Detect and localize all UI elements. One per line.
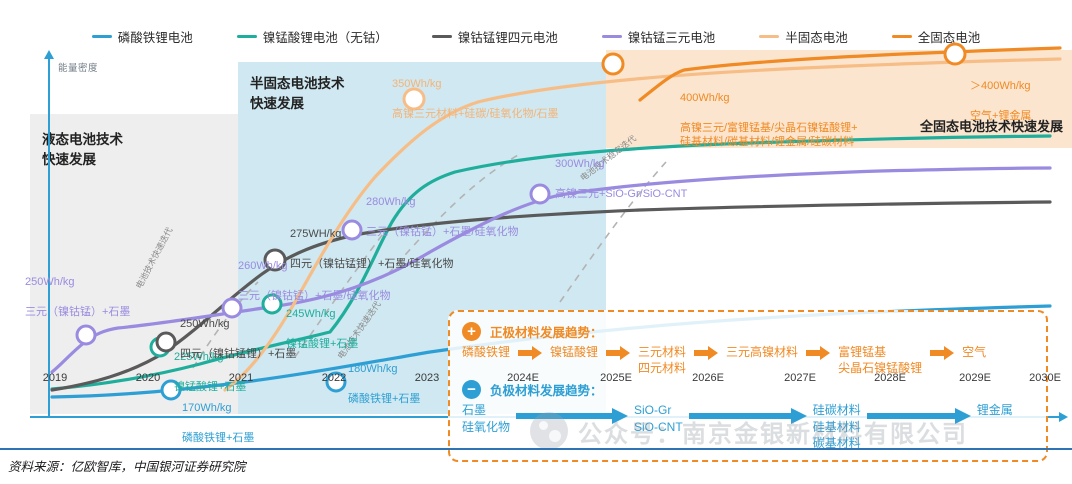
x-tick-2029E: 2029E <box>959 372 991 384</box>
annotation-280-material: 三元（镍钴锰）+石墨/硅氧化物 <box>366 225 518 240</box>
x-tick-2026E: 2026E <box>692 372 724 384</box>
plus-icon: + <box>462 322 481 341</box>
x-tick-2028E: 2028E <box>874 372 906 384</box>
cathode-node-1: 镍锰酸锂 <box>550 344 598 360</box>
annotation-300-value: 300Wh/kg <box>555 157 687 172</box>
cathode-node-0: 磷酸铁锂 <box>462 344 510 360</box>
annotation-400plus-material: 空气+锂金属 <box>970 109 1031 124</box>
legend-item-nmc: 镍钴锰三元电池 <box>602 27 716 46</box>
x-tick-2022: 2022 <box>322 372 346 384</box>
annotation-250-ternary: 250Wh/kg 三元（镍钴锰）+石墨 <box>25 260 130 334</box>
arrow-right-icon <box>606 346 630 360</box>
annotation-180-material: 磷酸铁锂+石墨 <box>348 392 420 407</box>
legend-label-nmc: 镍钴锰三元电池 <box>628 27 716 46</box>
anode-chain: 石墨 硅氧化物 SiO-Gr SiO-CNT 硅碳材料 硅基材料 碳基材料 锂金… <box>462 402 1034 451</box>
legend-label-nmca: 镍钴锰锂四元电池 <box>458 27 558 46</box>
annotation-300: 300Wh/kg 高镍三元+SiO-Gr/SiO-CNT <box>555 142 687 216</box>
annotation-260: 260Wh/kg 三元（镍钴锰）+石墨/硅氧化物 <box>238 244 390 318</box>
annotation-300-material: 高镍三元+SiO-Gr/SiO-CNT <box>555 187 687 202</box>
legend-swatch-lfp <box>92 35 112 38</box>
chart-legend: 磷酸铁锂电池 镍锰酸锂电池（无钴） 镍钴锰锂四元电池 镍钴锰三元电池 半固态电池… <box>0 24 1072 48</box>
marker-allsolid-2030 <box>945 44 965 64</box>
anode-node-1: SiO-Gr SiO-CNT <box>634 402 683 434</box>
legend-item-lfp: 磷酸铁锂电池 <box>92 27 193 46</box>
x-tick-2024E: 2024E <box>507 372 539 384</box>
annotation-400-value: 400Wh/kg <box>680 91 858 106</box>
arrow-right-icon <box>930 346 954 360</box>
arrow-right-icon <box>518 346 542 360</box>
annotation-400plus-value: ＞400Wh/kg <box>970 79 1031 94</box>
annotation-400plus: ＞400Wh/kg 空气+锂金属 <box>970 64 1031 138</box>
arrow-right-long-icon <box>516 408 628 424</box>
arrow-right-long-icon <box>867 408 971 424</box>
marker-nmca-2021 <box>157 333 175 351</box>
x-tick-2027E: 2027E <box>784 372 816 384</box>
x-tick-2019: 2019 <box>43 372 67 384</box>
anode-node-2: 硅碳材料 硅基材料 碳基材料 <box>813 402 861 451</box>
footer-divider <box>0 448 1072 450</box>
marker-nmc-2026 <box>531 185 549 203</box>
legend-label-allsolid: 全固态电池 <box>918 27 981 46</box>
annotation-400-material: 高镍三元/富锂锰基/尖晶石镍锰酸锂+ 硅基材料/碳基材料/锂金属/硅碳材料 <box>680 121 858 151</box>
annotation-350: 350Wh/kg 高镍三元材料+硅碳/硅氧化物/石墨 <box>392 62 559 136</box>
annotation-280-value: 280Wh/kg <box>366 195 518 210</box>
legend-item-allsolid: 全固态电池 <box>892 27 981 46</box>
marker-allsolid-2026 <box>603 54 623 74</box>
annotation-250q-material: 四元（镍钴锰锂）+石墨 <box>180 347 296 362</box>
annotation-280: 280Wh/kg 三元（镍钴锰）+石墨/硅氧化物 <box>366 180 518 254</box>
anode-node-0: 石墨 硅氧化物 <box>462 402 510 434</box>
legend-swatch-allsolid <box>892 35 912 38</box>
legend-label-lfp: 磷酸铁锂电池 <box>118 27 193 46</box>
x-tick-2023: 2023 <box>415 372 439 384</box>
annotation-170-material: 磷酸铁锂+石墨 <box>182 431 254 446</box>
x-axis-ticks: 2019 2020 2021 2022 2023 2024E 2025E 202… <box>0 372 1072 392</box>
legend-swatch-nmca <box>432 35 452 38</box>
cathode-title: 正极材料发展趋势： <box>490 322 603 341</box>
annotation-260-value: 260Wh/kg <box>238 259 390 274</box>
annotation-245-material: 镍锰酸锂+石墨 <box>286 337 358 352</box>
x-tick-2021: 2021 <box>229 372 253 384</box>
legend-item-lnmo: 镍锰酸锂电池（无钴） <box>237 27 388 46</box>
anode-node-3: 锂金属 <box>977 402 1013 418</box>
annotation-250q-value: 250Wh/kg <box>180 317 296 332</box>
x-tick-2030E: 2030E <box>1029 372 1061 384</box>
source-note: 资料来源：亿欧智库，中国银河证券研究院 <box>8 456 246 475</box>
legend-label-lnmo: 镍锰酸锂电池（无钴） <box>263 27 388 46</box>
annotation-250t-material: 三元（镍钴锰）+石墨 <box>25 305 130 320</box>
legend-item-semisolid: 半固态电池 <box>759 27 848 46</box>
legend-swatch-lnmo <box>237 35 257 38</box>
arrow-right-long-icon <box>689 408 807 424</box>
cathode-header: + 正极材料发展趋势： <box>462 322 1034 341</box>
annotation-250t-value: 250Wh/kg <box>25 275 130 290</box>
annotation-350-material: 高镍三元材料+硅碳/硅氧化物/石墨 <box>392 107 559 122</box>
arrow-right-icon <box>694 346 718 360</box>
x-tick-2020: 2020 <box>136 372 160 384</box>
legend-swatch-semisolid <box>759 35 779 38</box>
cathode-node-3: 三元高镍材料 <box>726 344 798 360</box>
annotation-350-value: 350Wh/kg <box>392 77 559 92</box>
legend-swatch-nmc <box>602 35 622 38</box>
annotation-400: 400Wh/kg 高镍三元/富锂锰基/尖晶石镍锰酸锂+ 硅基材料/碳基材料/锂金… <box>680 76 858 165</box>
cathode-node-5: 空气 <box>962 344 986 360</box>
arrow-right-icon <box>806 346 830 360</box>
annotation-260-material: 三元（镍钴锰）+石墨/硅氧化物 <box>238 289 390 304</box>
legend-item-nmca: 镍钴锰锂四元电池 <box>432 27 558 46</box>
x-tick-2025E: 2025E <box>600 372 632 384</box>
legend-label-semisolid: 半固态电池 <box>785 27 848 46</box>
chart-root: 磷酸铁锂电池 镍锰酸锂电池（无钴） 镍钴锰锂四元电池 镍钴锰三元电池 半固态电池… <box>0 0 1072 484</box>
